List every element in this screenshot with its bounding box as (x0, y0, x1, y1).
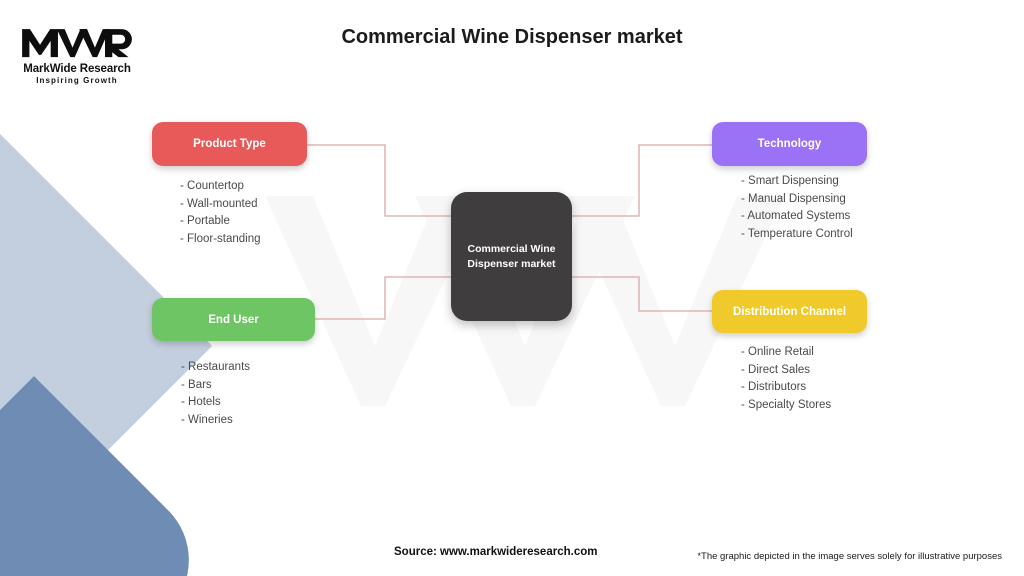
list-item: - Hotels (181, 394, 250, 412)
logo-brand-name: MarkWide Research (14, 63, 140, 75)
list-item: - Automated Systems (741, 208, 853, 226)
node-distribution-channel[interactable]: Distribution Channel (712, 290, 867, 333)
node-end-user[interactable]: End User (152, 298, 315, 341)
item-list-product-type: - Countertop - Wall-mounted - Portable -… (180, 178, 261, 248)
list-item: - Direct Sales (741, 362, 831, 380)
list-item: - Portable (180, 213, 261, 231)
list-item: - Specialty Stores (741, 397, 831, 415)
source-text: Source: www.markwideresearch.com (394, 546, 597, 558)
list-item: - Manual Dispensing (741, 191, 853, 209)
list-item: - Bars (181, 377, 250, 395)
list-item: - Online Retail (741, 344, 831, 362)
node-product-type[interactable]: Product Type (152, 122, 307, 166)
center-label-line2: Dispenser market (467, 258, 555, 270)
node-technology-label: Technology (758, 138, 822, 150)
page-title: Commercial Wine Dispenser market (0, 26, 1024, 49)
node-product-type-label: Product Type (193, 138, 266, 150)
list-item: - Floor-standing (180, 231, 261, 249)
item-list-end-user: - Restaurants - Bars - Hotels - Wineries (181, 359, 250, 429)
list-item: - Smart Dispensing (741, 173, 853, 191)
node-center-market[interactable]: Commercial Wine Dispenser market (451, 192, 572, 321)
list-item: - Restaurants (181, 359, 250, 377)
list-item: - Temperature Control (741, 226, 853, 244)
node-end-user-label: End User (208, 314, 259, 326)
list-item: - Wall-mounted (180, 196, 261, 214)
list-item: - Distributors (741, 379, 831, 397)
infographic-canvas: MarkWide Research Inspiring Growth Comme… (0, 0, 1024, 576)
list-item: - Wineries (181, 412, 250, 430)
list-item: - Countertop (180, 178, 261, 196)
item-list-distribution-channel: - Online Retail - Direct Sales - Distrib… (741, 344, 831, 414)
logo-tagline: Inspiring Growth (14, 76, 140, 85)
node-distribution-channel-label: Distribution Channel (733, 306, 846, 318)
disclaimer-text: *The graphic depicted in the image serve… (697, 551, 1002, 562)
node-technology[interactable]: Technology (712, 122, 867, 166)
item-list-technology: - Smart Dispensing - Manual Dispensing -… (741, 173, 853, 243)
center-label: Commercial Wine Dispenser market (461, 242, 561, 270)
center-label-line1: Commercial Wine (467, 243, 555, 255)
